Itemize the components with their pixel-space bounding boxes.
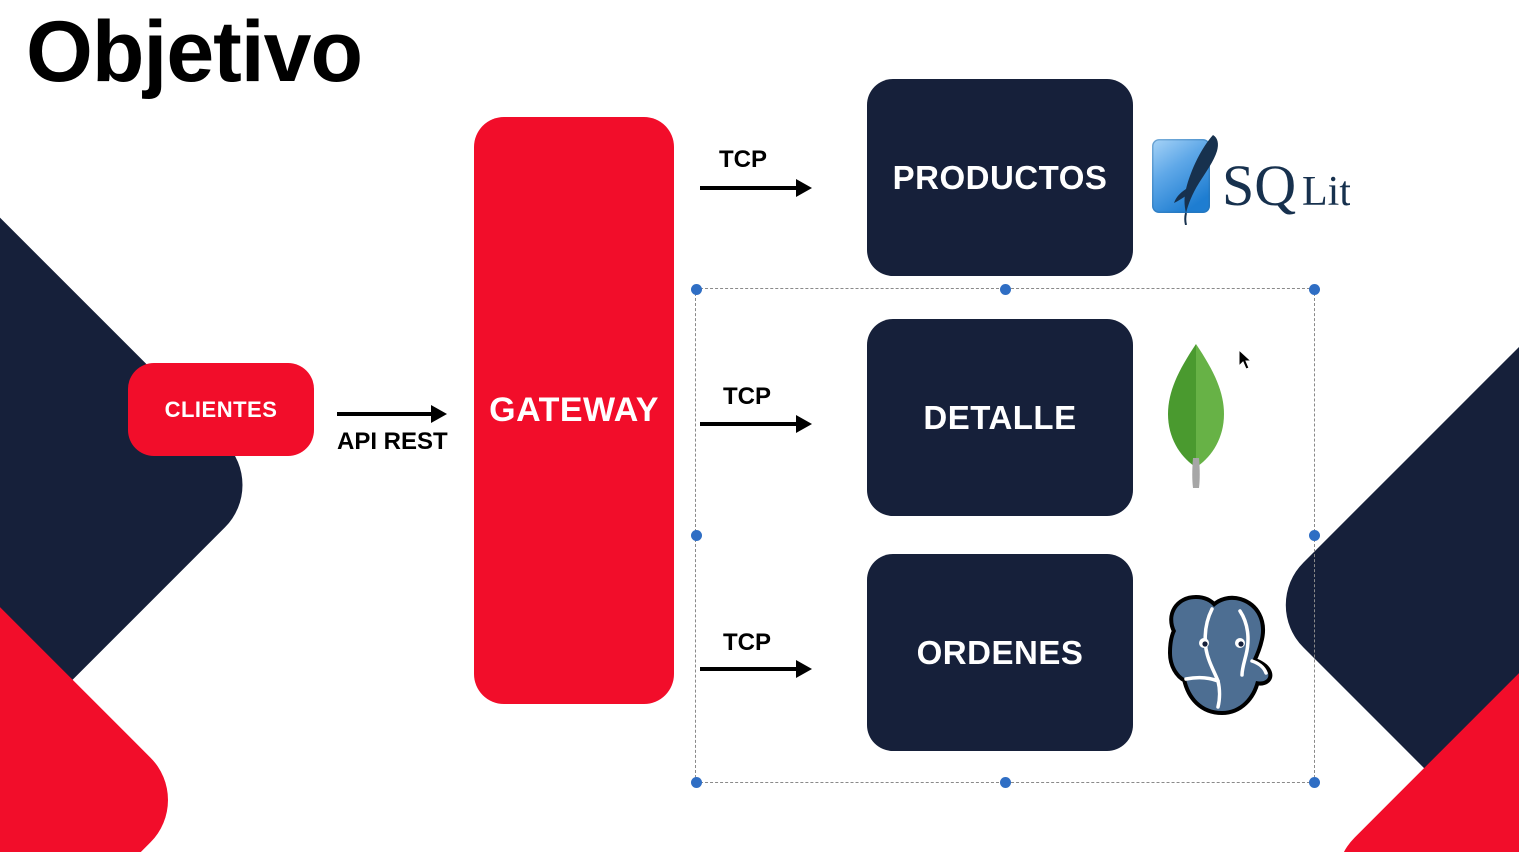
arrow-clientes-to-gateway xyxy=(337,402,447,426)
arrow-gateway-to-ordenes xyxy=(700,657,812,681)
node-clientes-label: CLIENTES xyxy=(165,397,278,423)
node-ordenes[interactable]: ORDENES xyxy=(867,554,1133,751)
arrow-shaft xyxy=(700,422,798,426)
selection-handle-top-center[interactable] xyxy=(1000,284,1011,295)
selection-handle-middle-left[interactable] xyxy=(691,530,702,541)
slide-canvas: Objetivo CLIENTES API REST GATEWAY TCP T… xyxy=(0,0,1519,852)
arrow-head-icon xyxy=(796,660,812,678)
decoration-left-navy-shape xyxy=(0,153,267,818)
decoration-left-red-shape xyxy=(0,517,193,852)
arrow-shaft xyxy=(337,412,433,416)
mouse-pointer-icon xyxy=(1238,349,1254,371)
svg-text:Lite: Lite xyxy=(1302,169,1350,215)
node-detalle[interactable]: DETALLE xyxy=(867,319,1133,516)
arrow-head-icon xyxy=(431,405,447,423)
node-productos[interactable]: PRODUCTOS xyxy=(867,79,1133,276)
node-detalle-label: DETALLE xyxy=(923,399,1076,437)
node-clientes[interactable]: CLIENTES xyxy=(128,363,314,456)
arrow-shaft xyxy=(700,667,798,671)
page-title: Objetivo xyxy=(26,5,362,100)
arrow-head-icon xyxy=(796,415,812,433)
arrow-gateway-to-detalle xyxy=(700,412,812,436)
selection-handle-bottom-right[interactable] xyxy=(1309,777,1320,788)
selection-handle-top-right[interactable] xyxy=(1309,284,1320,295)
connection-label-tcp-productos: TCP xyxy=(719,146,767,174)
node-gateway-label: GATEWAY xyxy=(489,391,659,430)
selection-handle-top-left[interactable] xyxy=(691,284,702,295)
sqlite-logo-icon: SQ Lite xyxy=(1150,131,1350,225)
decoration-right-red-shape xyxy=(1312,597,1519,852)
selection-handle-bottom-center[interactable] xyxy=(1000,777,1011,788)
connection-label-api-rest: API REST xyxy=(337,428,448,456)
svg-text:SQ: SQ xyxy=(1222,153,1296,218)
arrow-shaft xyxy=(700,186,798,190)
node-productos-label: PRODUCTOS xyxy=(893,159,1108,197)
postgresql-elephant-logo-icon xyxy=(1152,585,1282,725)
arrow-gateway-to-productos xyxy=(700,176,812,200)
connection-label-tcp-detalle: TCP xyxy=(723,383,771,411)
selection-handle-bottom-left[interactable] xyxy=(691,777,702,788)
mongodb-leaf-logo-icon xyxy=(1160,340,1232,490)
selection-handle-middle-right[interactable] xyxy=(1309,530,1320,541)
node-gateway[interactable]: GATEWAY xyxy=(474,117,674,704)
connection-label-tcp-ordenes: TCP xyxy=(723,629,771,657)
node-ordenes-label: ORDENES xyxy=(917,634,1084,672)
arrow-head-icon xyxy=(796,179,812,197)
